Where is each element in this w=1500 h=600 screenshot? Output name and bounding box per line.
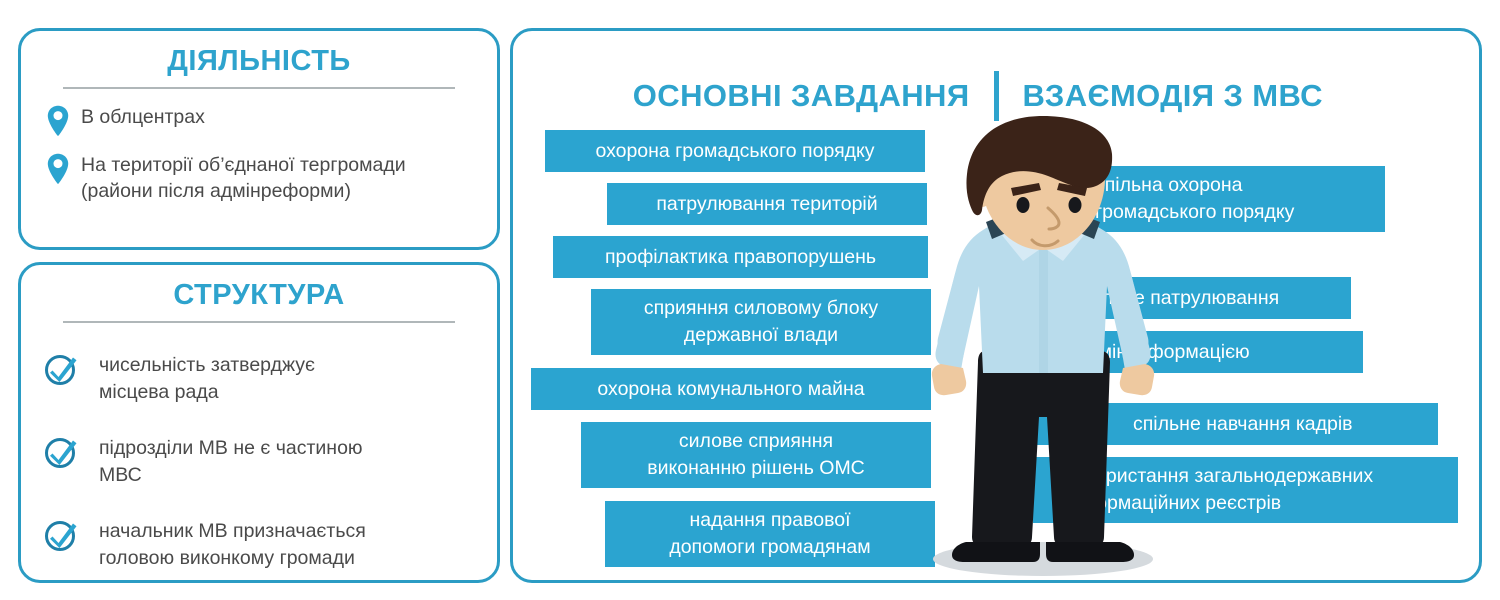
task-bar-label: патрулювання територій (607, 191, 927, 218)
task-bar-label: сприяння силовому блоку державної влади (591, 295, 931, 349)
tasks-header: ОСНОВНІ ЗАВДАННЯ ВЗАЄМОДІЯ З МВС (513, 71, 1479, 121)
task-bar-label: профілактика правопорушень (553, 244, 928, 271)
panel-activity: ДІЯЛЬНІСТЬ В облцентрах (18, 28, 500, 250)
structure-list: чисельність затверджує місцева рада підр… (21, 351, 497, 572)
task-bar-label: охорона громадського порядку (545, 138, 925, 165)
panel-activity-title: ДІЯЛЬНІСТЬ (21, 45, 497, 78)
task-bar: надання правової допомоги громадянам (605, 501, 935, 567)
list-item-label: чисельність затверджує місцева рада (99, 351, 315, 406)
panel-structure: СТРУКТУРА чисельність затверджує місцева… (18, 262, 500, 583)
list-item: В облцентрах (41, 103, 475, 137)
task-bar: профілактика правопорушень (553, 236, 928, 278)
list-item-label: начальник МВ призначається головою викон… (99, 517, 366, 572)
title-divider (63, 87, 455, 89)
task-bar-label: силове сприяння виконанню рішень ОМС (581, 428, 931, 482)
list-item: начальник МВ призначається головою викон… (41, 517, 475, 572)
list-item-label: На території об’єднаної тергромади (райо… (81, 151, 406, 204)
task-bar: патрулювання територій (607, 183, 927, 225)
list-item: підрозділи МВ не є частиною МВС (41, 434, 475, 489)
task-bar-label: охорона комунального майна (531, 376, 931, 403)
list-item: чисельність затверджує місцева рада (41, 351, 475, 406)
task-bar: охорона комунального майна (531, 368, 931, 410)
map-pin-icon (41, 151, 81, 185)
task-bar: охорона громадського порядку (545, 130, 925, 172)
task-bar: сприяння силовому блоку державної влади (591, 289, 931, 355)
task-bar-label: надання правової допомоги громадянам (605, 507, 935, 561)
list-item: На території об’єднаної тергромади (райо… (41, 151, 475, 204)
activity-list: В облцентрах На території об’єднаної тер… (21, 103, 497, 204)
check-circle-icon (41, 434, 99, 470)
map-pin-icon (41, 103, 81, 137)
task-bar: силове сприяння виконанню рішень ОМС (581, 422, 931, 488)
panel-tasks: ОСНОВНІ ЗАВДАННЯ ВЗАЄМОДІЯ З МВС охорона… (510, 28, 1482, 583)
list-item-label: В облцентрах (81, 103, 205, 130)
heading-main-tasks: ОСНОВНІ ЗАВДАННЯ (624, 78, 994, 114)
panel-structure-title: СТРУКТУРА (21, 279, 497, 312)
heading-cooperation: ВЗАЄМОДІЯ З МВС (999, 78, 1369, 114)
infographic-canvas: ДІЯЛЬНІСТЬ В облцентрах (0, 0, 1500, 600)
title-divider (63, 321, 455, 323)
municipal-officer-character (893, 116, 1193, 583)
check-circle-icon (41, 351, 99, 387)
list-item-label: підрозділи МВ не є частиною МВС (99, 434, 363, 489)
check-circle-icon (41, 517, 99, 553)
